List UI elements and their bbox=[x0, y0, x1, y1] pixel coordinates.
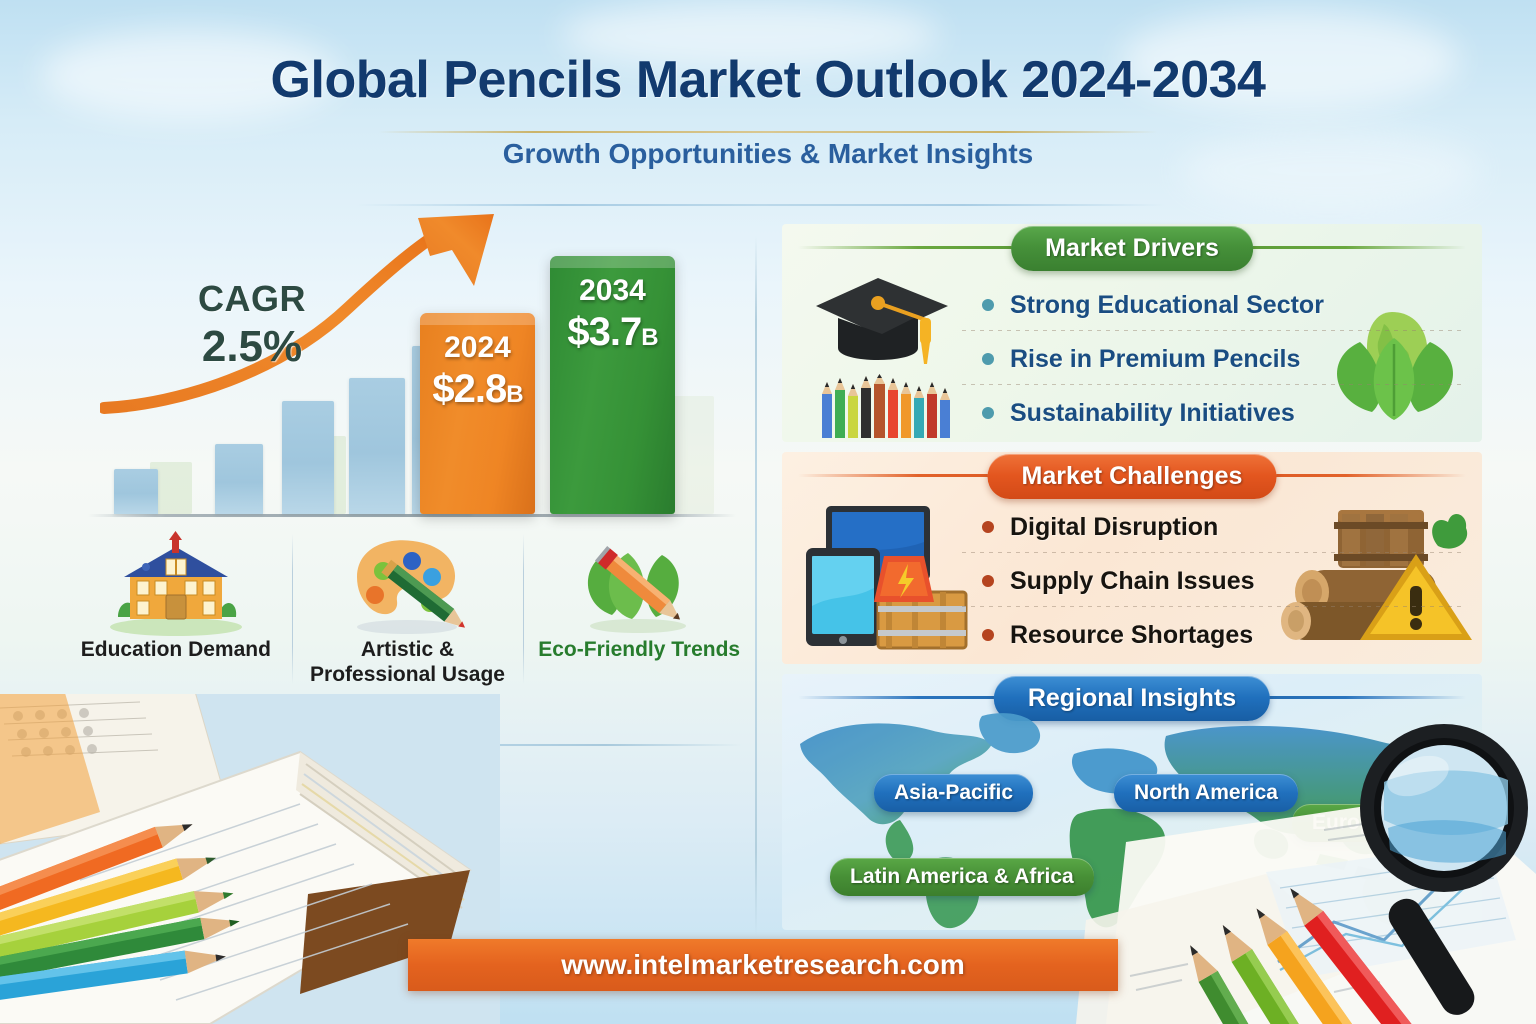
column-divider bbox=[755, 236, 757, 936]
leaf-pencil-icon bbox=[523, 528, 755, 638]
bar-2024: 2024 $2.8B bbox=[420, 313, 535, 514]
footer-banner: www.intelmarketresearch.com bbox=[408, 939, 1118, 991]
bar-2034-value: $3.7B bbox=[550, 310, 675, 355]
school-building-icon bbox=[60, 528, 292, 638]
footer-url[interactable]: www.intelmarketresearch.com bbox=[561, 949, 965, 981]
bullet-dot-icon bbox=[982, 629, 994, 641]
bullet-dot-icon bbox=[982, 407, 994, 419]
bar-highlight bbox=[420, 313, 535, 325]
left-column: CAGR 2.5% 2024 $2.8B 2034 $3.7B bbox=[60, 212, 755, 742]
page-header: Global Pencils Market Outlook 2024-2034 … bbox=[0, 0, 1536, 205]
cagr-value: 2.5% bbox=[198, 322, 306, 372]
market-challenges-title: Market Challenges bbox=[988, 454, 1277, 499]
cagr-label: CAGR bbox=[198, 278, 306, 320]
bar-highlight bbox=[550, 256, 675, 268]
bar-2024-unit: B bbox=[506, 381, 522, 408]
feature-cards: Education Demand bbox=[60, 524, 755, 709]
bar-2034-year: 2034 bbox=[550, 274, 675, 308]
bar-2024-year: 2024 bbox=[420, 331, 535, 365]
driver-item-label: Sustainability Initiatives bbox=[1010, 399, 1295, 428]
market-size-chart: CAGR 2.5% 2024 $2.8B 2034 $3.7B bbox=[60, 212, 755, 517]
bullet-dot-icon bbox=[982, 299, 994, 311]
challenge-item-label: Supply Chain Issues bbox=[1010, 567, 1255, 596]
challenge-item-label: Resource Shortages bbox=[1010, 621, 1253, 650]
challenge-item-label: Digital Disruption bbox=[1010, 513, 1218, 542]
driver-item[interactable]: Strong Educational Sector bbox=[982, 280, 1422, 330]
feature-card-artistic[interactable]: Artistic & Professional Usage bbox=[292, 524, 524, 709]
challenge-item[interactable]: Digital Disruption bbox=[982, 502, 1422, 552]
driver-item[interactable]: Rise in Premium Pencils bbox=[982, 334, 1422, 384]
row-dotted-rule bbox=[962, 606, 1462, 607]
drivers-bullet-list: Strong Educational Sector Rise in Premiu… bbox=[982, 280, 1422, 442]
driver-item-label: Rise in Premium Pencils bbox=[1010, 345, 1300, 374]
market-drivers-panel: Market Drivers bbox=[782, 224, 1482, 442]
market-challenges-panel: Market Challenges bbox=[782, 452, 1482, 664]
market-drivers-title: Market Drivers bbox=[1011, 226, 1253, 271]
laptop-tablet-icon bbox=[802, 502, 992, 652]
cagr-callout: CAGR 2.5% bbox=[198, 278, 306, 372]
feature-card-eco[interactable]: Eco-Friendly Trends bbox=[523, 524, 755, 709]
challenge-item[interactable]: Resource Shortages bbox=[982, 610, 1422, 660]
colored-pencils-icon bbox=[818, 374, 958, 440]
bar-2024-value: $2.8B bbox=[420, 367, 535, 412]
bullet-dot-icon bbox=[982, 521, 994, 533]
region-pill-latam-africa[interactable]: Latin America & Africa bbox=[830, 858, 1094, 896]
page-title: Global Pencils Market Outlook 2024-2034 bbox=[0, 50, 1536, 110]
title-underline bbox=[378, 131, 1158, 133]
art-palette-pencil-icon bbox=[292, 528, 524, 638]
region-pill-asia-pacific[interactable]: Asia-Pacific bbox=[874, 774, 1033, 812]
driver-item[interactable]: Sustainability Initiatives bbox=[982, 388, 1422, 438]
header-divider bbox=[356, 204, 1166, 206]
row-dotted-rule bbox=[962, 384, 1462, 385]
page-subtitle: Growth Opportunities & Market Insights bbox=[0, 138, 1536, 170]
bullet-dot-icon bbox=[982, 575, 994, 587]
bar-2034-unit: B bbox=[641, 324, 657, 351]
feature-card-artistic-label: Artistic & Professional Usage bbox=[292, 638, 524, 688]
feature-card-eco-label: Eco-Friendly Trends bbox=[523, 638, 755, 663]
bullet-dot-icon bbox=[982, 353, 994, 365]
row-dotted-rule bbox=[962, 552, 1462, 553]
driver-item-label: Strong Educational Sector bbox=[1010, 291, 1324, 320]
chart-baseline bbox=[88, 514, 736, 517]
challenge-item[interactable]: Supply Chain Issues bbox=[982, 556, 1422, 606]
feature-card-education[interactable]: Education Demand bbox=[60, 524, 292, 709]
feature-card-education-label: Education Demand bbox=[60, 638, 292, 663]
bar-2034: 2034 $3.7B bbox=[550, 256, 675, 514]
challenges-bullet-list: Digital Disruption Supply Chain Issues R… bbox=[982, 502, 1422, 664]
row-dotted-rule bbox=[962, 330, 1462, 331]
graduation-cap-icon bbox=[808, 272, 958, 380]
magnifier-charts-photo bbox=[1066, 724, 1536, 1024]
